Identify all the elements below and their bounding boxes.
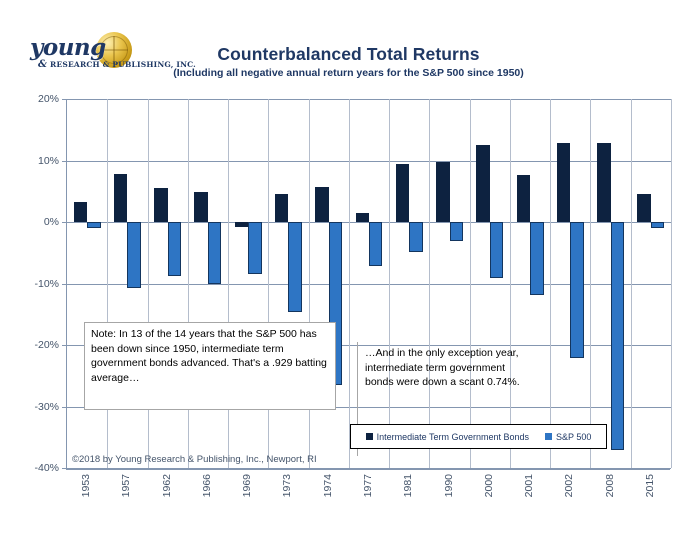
- chart-legend: Intermediate Term Government Bonds S&P 5…: [350, 424, 607, 449]
- x-axis-tick-label: 1957: [120, 474, 132, 497]
- legend-swatch-sp500-icon: [545, 433, 552, 440]
- gridline: [67, 161, 671, 162]
- bar-bonds-1990: [436, 162, 449, 222]
- gridline: [67, 99, 671, 100]
- x-axis-line: [66, 468, 670, 470]
- y-axis-tick-label: -10%: [7, 278, 59, 290]
- chart-title: Counterbalanced Total Returns: [0, 44, 697, 65]
- x-axis-tick-label: 2002: [563, 474, 575, 497]
- x-axis-tick-label: 1953: [80, 474, 92, 497]
- bar-bonds-1962: [154, 188, 167, 222]
- x-axis-tick-label: 1990: [443, 474, 455, 497]
- category-separator: [107, 99, 108, 468]
- y-axis-tick-mark: [62, 99, 67, 100]
- y-axis-tick-label: -40%: [7, 462, 59, 474]
- copyright-text: ©2018 by Young Research & Publishing, In…: [72, 454, 317, 465]
- legend-label-sp500: S&P 500: [556, 432, 591, 442]
- x-axis: 1953195719621966196919731974197719811990…: [66, 468, 670, 538]
- y-axis-tick-label: 10%: [7, 155, 59, 167]
- bar-sp500-1957: [127, 222, 140, 288]
- y-axis-tick-mark: [62, 222, 67, 223]
- legend-swatch-bonds-icon: [366, 433, 373, 440]
- bar-sp500-2001: [530, 222, 543, 295]
- category-separator: [309, 99, 310, 468]
- bar-bonds-1974: [315, 187, 328, 222]
- bar-sp500-1973: [288, 222, 301, 312]
- y-axis-tick-label: -20%: [7, 339, 59, 351]
- bar-sp500-2015: [651, 222, 664, 228]
- y-axis-tick-mark: [62, 284, 67, 285]
- category-separator: [671, 99, 672, 468]
- y-axis-tick-mark: [62, 161, 67, 162]
- x-axis-tick-label: 1966: [201, 474, 213, 497]
- bar-sp500-1953: [87, 222, 100, 228]
- category-separator: [631, 99, 632, 468]
- bar-bonds-2008: [597, 143, 610, 222]
- y-axis-tick-label: -30%: [7, 401, 59, 413]
- bar-bonds-2001: [517, 175, 530, 222]
- chart-plot-area: 20%10%0%-10%-20%-30%-40% Note: In 13 of …: [66, 99, 671, 468]
- category-separator: [349, 99, 350, 468]
- bar-bonds-1966: [194, 192, 207, 222]
- category-separator: [228, 99, 229, 468]
- x-axis-tick-label: 1981: [402, 474, 414, 497]
- bar-bonds-1973: [275, 194, 288, 222]
- x-axis-tick-label: 2008: [604, 474, 616, 497]
- bar-sp500-1962: [168, 222, 181, 276]
- category-separator: [389, 99, 390, 468]
- legend-item-sp500: S&P 500: [545, 432, 591, 442]
- bar-sp500-2008: [611, 222, 624, 450]
- x-axis-tick-label: 1974: [322, 474, 334, 497]
- bar-sp500-1966: [208, 222, 221, 284]
- category-separator: [148, 99, 149, 468]
- bar-bonds-1953: [74, 202, 87, 222]
- bar-sp500-1977: [369, 222, 382, 266]
- bar-bonds-1957: [114, 174, 127, 222]
- x-axis-tick-label: 1977: [362, 474, 374, 497]
- category-separator: [510, 99, 511, 468]
- chart-subtitle: (Including all negative annual return ye…: [0, 67, 697, 79]
- bar-bonds-1969: [235, 222, 248, 227]
- bar-bonds-1977: [356, 213, 369, 222]
- y-axis-tick-mark: [62, 345, 67, 346]
- bar-bonds-2000: [476, 145, 489, 222]
- x-axis-tick-label: 2015: [644, 474, 656, 497]
- bar-sp500-1969: [248, 222, 261, 274]
- category-separator: [590, 99, 591, 468]
- x-axis-tick-label: 1969: [241, 474, 253, 497]
- bar-sp500-2002: [570, 222, 583, 358]
- note-exception-year: …And in the only exception year, interme…: [357, 342, 539, 404]
- x-axis-tick-label: 1973: [281, 474, 293, 497]
- category-separator: [470, 99, 471, 468]
- legend-label-bonds: Intermediate Term Government Bonds: [377, 432, 529, 442]
- y-axis-tick-mark: [62, 407, 67, 408]
- y-axis-tick-label: 20%: [7, 93, 59, 105]
- note-batting-average: Note: In 13 of the 14 years that the S&P…: [84, 322, 336, 410]
- bar-sp500-2000: [490, 222, 503, 278]
- legend-item-bonds: Intermediate Term Government Bonds: [366, 432, 529, 442]
- category-separator: [188, 99, 189, 468]
- bar-bonds-1981: [396, 164, 409, 222]
- bar-bonds-2015: [637, 194, 650, 222]
- category-separator: [429, 99, 430, 468]
- bar-bonds-2002: [557, 143, 570, 222]
- x-axis-tick-label: 2000: [483, 474, 495, 497]
- x-axis-tick-label: 2001: [523, 474, 535, 497]
- bar-sp500-1981: [409, 222, 422, 252]
- bar-sp500-1990: [450, 222, 463, 241]
- x-axis-tick-label: 1962: [161, 474, 173, 497]
- y-axis-tick-label: 0%: [7, 216, 59, 228]
- category-separator: [268, 99, 269, 468]
- category-separator: [550, 99, 551, 468]
